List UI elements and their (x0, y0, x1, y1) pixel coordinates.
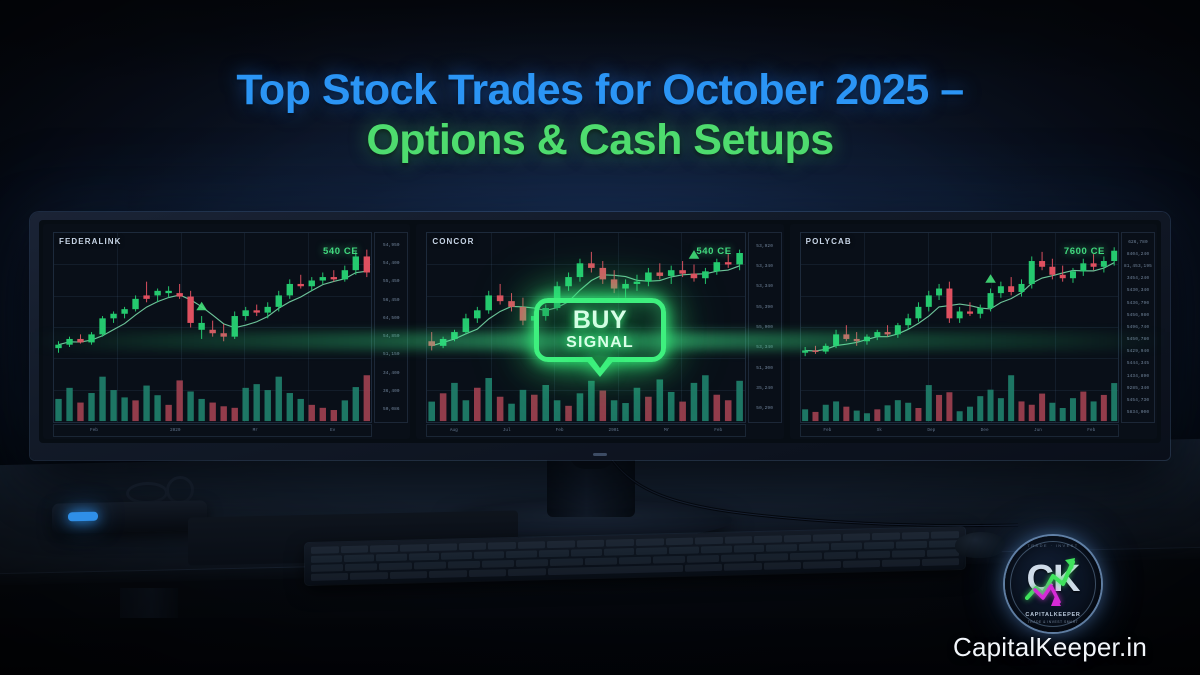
candle-body (463, 318, 470, 332)
buy-signal-line-2: SIGNAL (566, 333, 634, 353)
capitalkeeper-logo[interactable]: TRADE · INVEST CK CAPITALKEEPER TRADE & … (1005, 536, 1101, 632)
volume-bar (600, 391, 607, 422)
price-axis: 54,95054,40055,45056,45064,50054,85051,1… (374, 232, 408, 423)
time-axis-tick: Feb (90, 428, 98, 433)
candle-body (331, 277, 337, 279)
time-axis-tick: Jul (503, 428, 511, 433)
volume-bar (287, 393, 293, 421)
volume-bar (440, 393, 447, 421)
candle-body (520, 307, 527, 321)
candle-body (242, 310, 248, 316)
time-axis-tick: Jun (1034, 428, 1042, 433)
price-axis-tick: 5430,340 (1127, 288, 1149, 293)
candlestick-plot (800, 232, 1119, 423)
candle-body (577, 263, 584, 277)
candle-body (725, 262, 732, 264)
strike-annotation: 7600 CE (1064, 246, 1105, 257)
volume-bar (680, 402, 687, 421)
candle-body (309, 281, 315, 287)
candle-body (209, 330, 215, 333)
volume-bar (342, 400, 348, 421)
candle-body (440, 339, 447, 346)
candle-body (364, 256, 370, 272)
candle-body (998, 286, 1004, 293)
candle-body (1018, 284, 1024, 292)
candle-body (486, 295, 493, 310)
candle-body (509, 301, 516, 307)
candle-body (320, 277, 326, 280)
volume-bar (543, 385, 550, 421)
volume-bar (915, 408, 921, 421)
volume-bar (353, 387, 359, 421)
volume-bar (276, 377, 282, 421)
candle-body (1049, 267, 1055, 275)
time-axis-tick: Aug (450, 428, 458, 433)
price-axis-tick: 3454,240 (1127, 276, 1149, 281)
volume-bar (298, 399, 304, 421)
candle-body (645, 272, 652, 281)
candle-body (1008, 286, 1014, 292)
candle-body (429, 341, 436, 346)
buy-signal-badge[interactable]: BUY SIGNAL (534, 298, 666, 362)
time-axis: FebSkDepDeeJunFeb (800, 424, 1119, 437)
candle-body (187, 297, 193, 323)
volume-bar (725, 400, 732, 421)
monitor-cable (600, 455, 1020, 535)
candle-body (915, 307, 921, 318)
volume-bar (657, 379, 664, 421)
volume-bar (121, 397, 127, 421)
volume-bar (331, 410, 337, 421)
volume-bar (154, 395, 160, 421)
volume-bar (1049, 403, 1055, 421)
volume-bar (265, 390, 271, 421)
candle-body (253, 310, 259, 312)
bullish-arrow-icon (985, 274, 996, 283)
candle-body (864, 337, 870, 342)
time-axis-tick: 2901 (608, 428, 619, 433)
candle-body (287, 284, 293, 295)
price-axis-tick: 5456,980 (1127, 313, 1149, 318)
volume-bar (894, 400, 900, 421)
candle-body (451, 332, 458, 339)
mouse[interactable] (955, 531, 1005, 558)
candle-body (88, 334, 94, 342)
volume-bar (802, 409, 808, 421)
candle-body (1028, 261, 1034, 284)
candle-body (588, 263, 595, 268)
volume-bar (905, 403, 911, 421)
price-axis: 626,7808404,24081,453,1953454,2405430,34… (1121, 232, 1155, 423)
candle-body (600, 268, 607, 279)
price-axis-tick: 53,340 (756, 284, 773, 289)
candle-body (198, 323, 204, 330)
price-axis-tick: 5450,780 (1127, 337, 1149, 342)
candle-body (623, 284, 630, 289)
candlestick-plot (53, 232, 372, 423)
volume-bar (77, 403, 83, 422)
logo-trend-arrow-icon (1005, 536, 1101, 632)
candle-body (812, 350, 818, 352)
price-axis-tick: 5454,730 (1127, 398, 1149, 403)
candle-body (1111, 251, 1117, 261)
time-axis-tick: Mr (664, 428, 669, 433)
time-axis-tick: Dee (981, 428, 989, 433)
volume-bar (486, 378, 493, 421)
candle-body (99, 318, 105, 334)
price-axis-tick: 51,150 (383, 352, 400, 357)
volume-bar (822, 405, 828, 421)
volume-bar (364, 375, 370, 421)
candle-body (66, 339, 72, 345)
volume-bar (1111, 383, 1117, 421)
volume-bar (864, 413, 870, 421)
volume-bar (987, 390, 993, 421)
volume-bar (1018, 401, 1024, 421)
time-axis-tick: 2020 (170, 428, 181, 433)
candle-body (1070, 271, 1076, 278)
candle-body (894, 325, 900, 334)
candle-body (967, 311, 973, 313)
volume-bar (577, 393, 584, 421)
moving-average-line (805, 263, 1114, 351)
price-axis-tick: 53,920 (756, 244, 773, 249)
volume-bar (66, 388, 72, 421)
candle-body (232, 316, 238, 337)
price-axis-tick: 53,340 (756, 345, 773, 350)
candle-body (298, 284, 304, 286)
buy-signal-line-1: BUY (573, 308, 627, 333)
volume-bar (1028, 405, 1034, 421)
candle-body (1039, 261, 1045, 267)
volume-bar (451, 383, 458, 421)
volume-bar (936, 395, 942, 421)
volume-bar (977, 396, 983, 421)
strike-annotation: 540 CE (323, 246, 358, 257)
volume-bar (221, 406, 227, 421)
candle-body (221, 333, 227, 336)
volume-bar (1059, 408, 1065, 421)
buy-signal-text: BUY SIGNAL (534, 298, 666, 362)
candle-body (987, 293, 993, 308)
candle-body (680, 270, 687, 273)
volume-bar (110, 390, 116, 421)
time-axis-tick: Mr (253, 428, 258, 433)
volume-bar (812, 412, 818, 421)
candle-body (1059, 275, 1065, 278)
volume-bar (611, 400, 618, 421)
price-axis-tick: 55,450 (383, 279, 400, 284)
candle-body (936, 289, 942, 296)
volume-bar (884, 405, 890, 421)
volume-bar (429, 402, 436, 421)
time-axis: Feb2020MrEv (53, 424, 372, 437)
candle-body (176, 293, 182, 296)
volume-bar (520, 390, 527, 421)
candle-body (132, 299, 138, 309)
candle-body (657, 272, 664, 275)
candle-body (165, 291, 171, 293)
volume-bar (645, 397, 652, 421)
volume-bar (874, 409, 880, 421)
monitor-power-led (593, 453, 607, 456)
price-axis-tick: 5444,345 (1127, 361, 1149, 366)
volume-bar (1080, 392, 1086, 422)
candle-body (154, 291, 160, 296)
volume-bar (998, 398, 1004, 421)
volume-bar (1039, 394, 1045, 422)
volume-bar (843, 407, 849, 421)
time-axis-tick: Feb (556, 428, 564, 433)
volume-bar (165, 405, 171, 421)
poster-title: Top Stock Trades for October 2025 – Opti… (0, 68, 1200, 163)
price-axis-tick: 54,950 (383, 243, 400, 248)
price-axis-tick: 64,500 (383, 316, 400, 321)
volume-bar (634, 388, 641, 421)
price-axis-tick: 5834,000 (1127, 410, 1149, 415)
candle-body (946, 289, 952, 319)
candle-body (121, 309, 127, 314)
volume-bar (497, 397, 504, 421)
candle-body (634, 282, 641, 284)
price-axis-tick: 55,390 (756, 305, 773, 310)
candle-body (884, 332, 890, 334)
candle-body (714, 262, 721, 271)
candle-body (802, 350, 808, 352)
charging-dock[interactable] (52, 500, 207, 533)
volume-bar (702, 375, 709, 421)
volume-bar (88, 393, 94, 421)
candle-body (342, 270, 348, 279)
candle-body (702, 271, 709, 278)
candle-body (474, 310, 481, 318)
volume-bar (946, 392, 952, 421)
volume-bar (588, 381, 595, 421)
volume-bar (309, 405, 315, 421)
volume-bar (967, 407, 973, 421)
price-axis-tick: 36,400 (383, 389, 400, 394)
volume-bar (714, 395, 721, 421)
site-url: CapitalKeeper.in (905, 632, 1195, 663)
title-line-2: Options & Cash Setups (0, 118, 1200, 164)
price-axis-tick: 34,400 (383, 371, 400, 376)
price-axis-tick: 626,780 (1128, 240, 1148, 245)
time-axis-tick: Dep (927, 428, 935, 433)
candle-body (1090, 263, 1096, 266)
volume-bar (1070, 398, 1076, 421)
price-axis-tick: 1434,890 (1127, 374, 1149, 379)
candle-body (265, 307, 271, 313)
time-axis: AugJulFeb2901MrFeb (426, 424, 745, 437)
price-axis-tick: 81,453,195 (1124, 264, 1152, 269)
candle-body (55, 345, 61, 348)
volume-bar (143, 386, 149, 422)
volume-bar (320, 408, 326, 421)
volume-bar (956, 411, 962, 421)
title-line-1: Top Stock Trades for October 2025 – (0, 68, 1200, 114)
volume-bar (463, 400, 470, 421)
candle-body (925, 295, 931, 306)
dock-led-indicator (68, 512, 98, 522)
volume-bar (531, 395, 538, 421)
candle-body (843, 334, 849, 339)
volume-bar (242, 388, 248, 421)
candle-body (956, 311, 962, 318)
candle-body (353, 256, 359, 270)
volume-bar (1101, 395, 1107, 421)
candle-body (276, 295, 282, 306)
candle-body (611, 279, 618, 288)
candle-body (822, 346, 828, 352)
candle-body (497, 295, 504, 301)
volume-bar (198, 399, 204, 421)
volume-bar (1090, 401, 1096, 421)
candle-body (737, 253, 744, 264)
strike-annotation: 540 CE (696, 246, 731, 257)
candle-body (833, 334, 839, 345)
price-axis-tick: 9285,340 (1127, 386, 1149, 391)
candle-body (143, 295, 149, 298)
buy-signal-pointer (586, 360, 614, 377)
price-axis-tick: 56,450 (383, 298, 400, 303)
time-axis-tick: Feb (823, 428, 831, 433)
bullish-arrow-icon (196, 302, 207, 311)
price-axis-tick: 8404,240 (1127, 252, 1149, 257)
candle-body (566, 277, 573, 286)
volume-bar (132, 400, 138, 421)
chart-symbol-label: CONCOR (432, 237, 474, 246)
volume-bar (691, 383, 698, 421)
candle-body (853, 339, 859, 341)
volume-bar (55, 399, 61, 421)
candle-body (874, 332, 880, 337)
candle-body (691, 274, 698, 279)
candle-body (1101, 261, 1107, 267)
price-axis-tick: 5496,740 (1127, 325, 1149, 330)
price-axis-tick: 5429,940 (1127, 349, 1149, 354)
volume-bar (853, 411, 859, 422)
price-axis-tick: 5436,790 (1127, 301, 1149, 306)
candle-body (1080, 263, 1086, 271)
volume-bar (509, 404, 516, 421)
candle-body (77, 339, 83, 342)
time-axis-tick: Feb (714, 428, 722, 433)
poster-canvas: Top Stock Trades for October 2025 – Opti… (0, 0, 1200, 675)
volume-bar (925, 385, 931, 421)
volume-bar (176, 380, 182, 421)
price-axis-tick: 55,900 (756, 325, 773, 330)
volume-bar (474, 388, 481, 421)
time-axis-tick: Feb (1087, 428, 1095, 433)
volume-bar (668, 392, 675, 421)
price-axis-tick: 51,300 (756, 366, 773, 371)
chart-symbol-label: FEDERALINK (59, 237, 122, 246)
chart-panel-federalink[interactable]: FEDERALINK540 CE54,95054,40055,45056,450… (43, 224, 410, 439)
volume-bar (833, 401, 839, 421)
volume-bar (554, 400, 561, 421)
volume-bar (1008, 375, 1014, 421)
price-axis: 53,92053,34053,34055,39055,90053,34051,3… (748, 232, 782, 423)
candle-body (110, 314, 116, 319)
price-axis-tick: 54,400 (383, 261, 400, 266)
time-axis-tick: Sk (877, 428, 882, 433)
candle-body (668, 270, 675, 276)
candle-body (905, 318, 911, 325)
chart-symbol-label: POLYCAB (806, 237, 852, 246)
price-axis-tick: 50,086 (383, 407, 400, 412)
price-axis-tick: 53,340 (756, 264, 773, 269)
candle-body (977, 308, 983, 314)
volume-bar (623, 403, 630, 421)
volume-bar (253, 384, 259, 421)
price-axis-tick: 54,850 (383, 334, 400, 339)
volume-bar (187, 391, 193, 421)
volume-bar (99, 377, 105, 421)
volume-bar (566, 406, 573, 421)
volume-bar (232, 408, 238, 421)
price-axis-tick: 35,240 (756, 386, 773, 391)
chart-panel-polycab[interactable]: POLYCAB7600 CE626,7808404,24081,453,1953… (790, 224, 1157, 439)
volume-bar (737, 381, 744, 421)
price-axis-tick: 50,290 (756, 406, 773, 411)
time-axis-tick: Ev (330, 428, 335, 433)
volume-bar (209, 403, 215, 422)
ultrawide-monitor: FEDERALINK540 CE54,95054,40055,45056,450… (30, 212, 1170, 460)
